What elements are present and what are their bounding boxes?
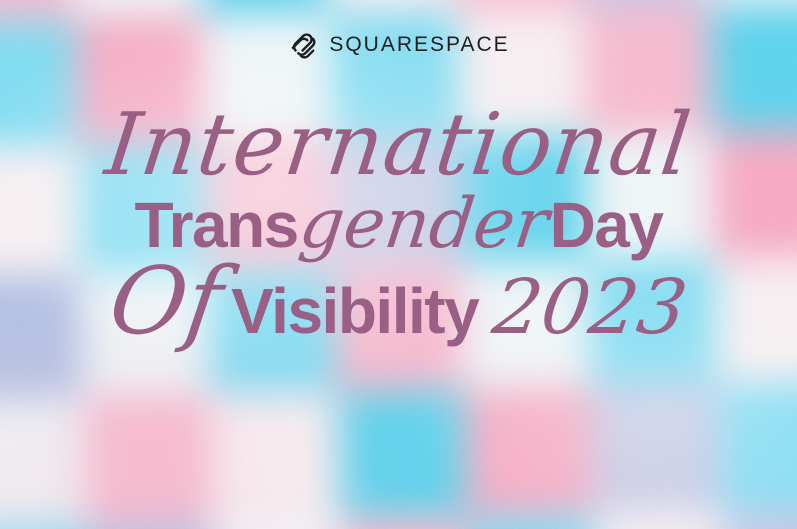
headline-block: International Trans gender Day Of Visibi… (0, 104, 797, 347)
poster-content: SQUARESPACE International Trans gender D… (0, 0, 797, 529)
headline-line-1: International (0, 104, 797, 187)
headline-word-day: Day (550, 192, 663, 259)
squarespace-logo-lockup: SQUARESPACE (287, 29, 509, 60)
headline-word-gender: gender (293, 189, 554, 261)
headline-word-international: International (101, 95, 697, 195)
poster-canvas: SQUARESPACE International Trans gender D… (0, 0, 797, 529)
squarespace-logo-icon (287, 29, 318, 60)
squarespace-wordmark: SQUARESPACE (329, 34, 509, 55)
headline-word-visibility: Visibility (231, 278, 478, 345)
headline-year-2023: 2023 (483, 268, 692, 347)
headline-line-3: Of Visibility 2023 (0, 264, 797, 347)
headline-word-of: Of (105, 264, 226, 338)
